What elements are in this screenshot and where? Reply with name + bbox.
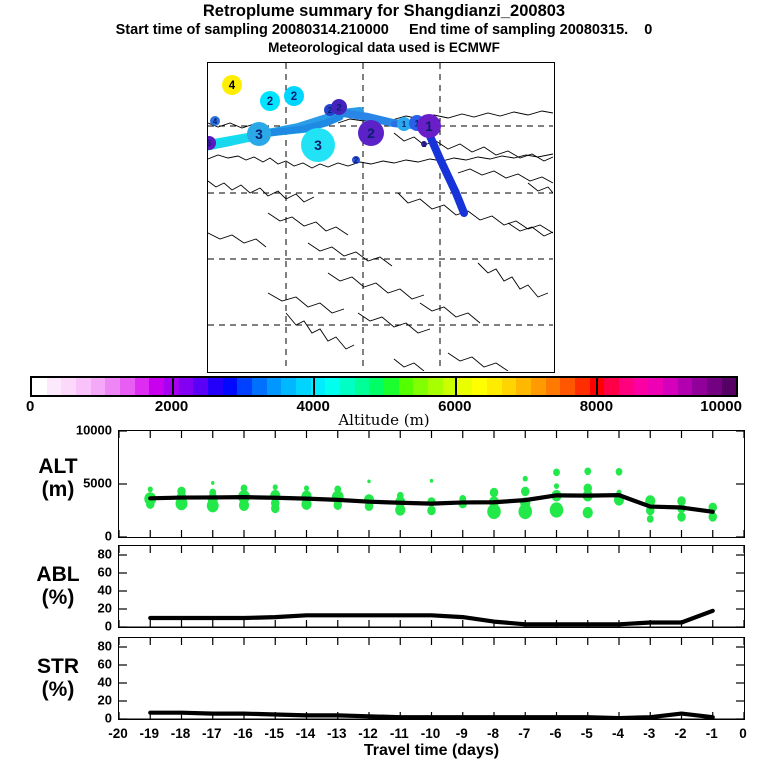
alt-scatter-point-6 [211, 481, 214, 485]
coast-path-8 [328, 273, 424, 299]
colorbar-swatch-43 [663, 378, 678, 395]
xtick-label--19: -19 [139, 726, 159, 741]
alt-scatter-point-44 [550, 502, 564, 517]
cluster-marker-label: 4 [213, 117, 218, 126]
coast-path-1 [208, 181, 314, 202]
colorbar-swatch-2 [61, 378, 76, 395]
coast-path-16 [394, 359, 424, 371]
met-data-line: Meteorological data used is ECMWF [0, 39, 768, 56]
cluster-marker-label: 2 [291, 91, 297, 103]
colorbar-swatch-37 [575, 378, 590, 395]
colorbar-swatch-7 [135, 378, 150, 395]
xtick-label--16: -16 [233, 726, 253, 741]
alt-scatter-point-2 [146, 499, 155, 509]
colorbar-swatch-29 [457, 378, 472, 395]
cluster-marker-label: 2 [267, 96, 273, 108]
xtick-label--17: -17 [202, 726, 222, 741]
cluster-marker-9[interactable]: 1 [397, 117, 411, 131]
xtick-label--8: -8 [487, 726, 499, 741]
alt-plot-canvas [119, 431, 744, 537]
colorbar-swatch-0 [32, 378, 47, 395]
colorbar-swatch-3 [76, 378, 91, 395]
coast-path-18 [208, 233, 266, 247]
colorbar-swatch-8 [149, 378, 164, 395]
xtick-label--3: -3 [643, 726, 655, 741]
colorbar-swatch-22 [355, 378, 370, 395]
cluster-marker-4[interactable]: 2 [331, 99, 347, 115]
xtick-label--11: -11 [390, 726, 409, 741]
altitude-colorbar[interactable] [30, 376, 738, 397]
coast-path-4 [458, 169, 553, 183]
cluster-marker-label: 2 [336, 102, 341, 112]
alt-scatter-points [144, 467, 717, 522]
colorbar-swatch-17 [281, 378, 296, 395]
alt-scatter-point-36 [487, 504, 501, 519]
colorbar-swatch-31 [487, 378, 502, 395]
colorbar-swatch-16 [267, 378, 282, 395]
colorbar-swatch-23 [369, 378, 384, 395]
alt-scatter-point-12 [239, 500, 249, 511]
cluster-marker-label: 4 [229, 80, 236, 92]
map-canvas: 422223322111145 [208, 63, 553, 371]
cluster-marker-label: 2 [354, 156, 359, 165]
colorbar-swatch-33 [516, 378, 531, 395]
alt-ytick-0: 0 [62, 529, 112, 544]
abl-ytick-60: 60 [62, 565, 112, 580]
xtick-label--18: -18 [171, 726, 191, 741]
xtick-label--7: -7 [518, 726, 530, 741]
coast-path-13 [478, 263, 548, 297]
cluster-marker-13[interactable]: 4 [210, 116, 220, 126]
abl-ytick-80: 80 [62, 547, 112, 562]
alt-scatter-point-48 [583, 507, 593, 518]
coast-path-9 [358, 313, 430, 333]
cluster-marker-label: 5 [208, 139, 212, 148]
coast-path-15 [448, 353, 508, 371]
abl-plot-panel[interactable] [118, 545, 745, 628]
alt-scatter-point-34 [490, 488, 499, 497]
str-ytick-80: 80 [62, 639, 112, 654]
xtick-label--14: -14 [296, 726, 316, 741]
coast-path-14 [508, 223, 553, 236]
xtick-label--5: -5 [581, 726, 593, 741]
colorbar-swatch-35 [546, 378, 561, 395]
str-ytick-40: 40 [62, 675, 112, 690]
alt-scatter-point-40 [518, 504, 532, 519]
abl-ytick-40: 40 [62, 583, 112, 598]
colorbar-swatch-4 [91, 378, 106, 395]
colorbar-swatch-15 [252, 378, 267, 395]
alt-ytick-10000: 10000 [62, 423, 112, 438]
colorbar-divider-8000 [596, 376, 598, 397]
coast-path-0 [208, 154, 553, 168]
str-plot-panel[interactable] [118, 637, 745, 720]
colorbar-swatch-14 [237, 378, 252, 395]
colorbar-swatch-21 [340, 378, 355, 395]
colorbar-swatch-10 [179, 378, 194, 395]
colorbar-divider-2000 [172, 376, 174, 397]
colorbar-swatch-13 [223, 378, 238, 395]
colorbar-swatch-36 [560, 378, 575, 395]
trajectory-segment-6 [426, 127, 464, 213]
alt-scatter-point-23 [367, 479, 370, 483]
colorbar-swatch-27 [428, 378, 443, 395]
page-title: Retroplume summary for Shangdianzi_20080… [0, 2, 768, 21]
alt-plot-panel[interactable] [118, 430, 745, 538]
str-ytick-20: 20 [62, 693, 112, 708]
cluster-marker-6[interactable]: 3 [301, 128, 335, 162]
str-ytick-60: 60 [62, 657, 112, 672]
cluster-marker-5[interactable]: 3 [247, 122, 271, 146]
cluster-marker-label: 1 [402, 120, 407, 129]
colorbar-divider-6000 [455, 376, 457, 397]
colorbar-swatch-46 [707, 378, 722, 395]
coast-path-7 [308, 243, 392, 266]
colorbar-swatch-30 [472, 378, 487, 395]
cluster-marker-label: 1 [422, 140, 427, 149]
cluster-marker-0[interactable]: 4 [222, 75, 242, 95]
xtick-label--15: -15 [264, 726, 284, 741]
colorbar-divider-4000 [313, 376, 315, 397]
coast-path-6 [268, 213, 348, 235]
coast-path-5 [398, 193, 553, 233]
coastline-layer [208, 111, 553, 371]
header-block: Retroplume summary for Shangdianzi_20080… [0, 2, 768, 56]
alt-scatter-point-54 [647, 515, 654, 523]
cluster-marker-label: 3 [255, 127, 263, 142]
alt-scatter-point-42 [554, 483, 559, 489]
colorbar-swatch-34 [531, 378, 546, 395]
xtick-label--13: -13 [327, 726, 347, 741]
map-gridlines [208, 63, 553, 371]
alt-scatter-point-29 [430, 479, 433, 483]
cluster-marker-1[interactable]: 2 [260, 91, 280, 111]
cluster-marker-12[interactable]: 1 [421, 140, 427, 149]
colorbar-swatch-20 [325, 378, 340, 395]
cluster-marker-7[interactable]: 2 [358, 120, 384, 146]
retroplume-map[interactable]: 422223322111145 [207, 62, 555, 373]
alt-scatter-point-45 [584, 467, 591, 475]
colorbar-swatch-47 [722, 378, 737, 395]
colorbar-swatch-32 [502, 378, 517, 395]
alt-scatter-point-28 [395, 504, 405, 515]
xtick-label--10: -10 [421, 726, 441, 741]
str-tick-marks [119, 638, 744, 719]
cluster-marker-label: 3 [314, 137, 322, 153]
colorbar-swatch-42 [648, 378, 663, 395]
alt-scatter-point-49 [616, 468, 623, 476]
cluster-marker-label: 2 [367, 125, 375, 141]
coast-path-3 [394, 133, 553, 161]
alt-scatter-point-17 [304, 485, 309, 491]
str-plot-canvas [119, 638, 744, 719]
abl-plot-canvas [119, 546, 744, 627]
alt-scatter-point-38 [521, 487, 530, 497]
coast-path-11 [286, 313, 354, 349]
alt-scatter-point-13 [273, 484, 278, 490]
colorbar-swatch-25 [399, 378, 414, 395]
colorbar-swatch-44 [678, 378, 693, 395]
xtick-label--2: -2 [674, 726, 686, 741]
colorbar-swatch-11 [193, 378, 208, 395]
xtick-label--9: -9 [456, 726, 468, 741]
colorbar-swatch-45 [692, 378, 707, 395]
xtick-label--12: -12 [358, 726, 378, 741]
alt-scatter-point-37 [523, 476, 528, 482]
alt-ytick-5000: 5000 [62, 476, 112, 491]
abl-ytick-0: 0 [62, 619, 112, 634]
coast-path-19 [528, 183, 553, 193]
colorbar-swatch-18 [296, 378, 311, 395]
cluster-marker-label: 1 [425, 119, 433, 134]
colorbar-swatch-24 [384, 378, 399, 395]
colorbar-swatch-40 [619, 378, 634, 395]
coast-path-10 [268, 293, 344, 313]
cluster-marker-2[interactable]: 2 [284, 86, 304, 106]
alt-scatter-point-57 [677, 512, 686, 522]
colorbar-swatch-39 [604, 378, 619, 395]
colorbar-axis-label: Altitude (m) [0, 411, 768, 429]
alt-scatter-point-9 [207, 499, 219, 512]
coast-path-12 [420, 303, 480, 323]
colorbar-swatch-6 [120, 378, 135, 395]
sampling-time-line: Start time of sampling 20080314.210000 E… [0, 21, 768, 39]
cluster-marker-8[interactable]: 2 [352, 156, 360, 165]
xtick-label--4: -4 [612, 726, 624, 741]
colorbar-swatch-1 [47, 378, 62, 395]
alt-scatter-point-31 [427, 506, 436, 516]
abl-ytick-20: 20 [62, 601, 112, 616]
alt-scatter-point-0 [148, 486, 153, 492]
colorbar-swatch-41 [634, 378, 649, 395]
alt-scatter-point-16 [271, 504, 280, 514]
cluster-marker-11[interactable]: 1 [417, 114, 441, 138]
xtick-label--6: -6 [549, 726, 561, 741]
colorbar-swatch-26 [413, 378, 428, 395]
xtick-label--20: -20 [108, 726, 128, 741]
alt-scatter-point-41 [553, 469, 560, 477]
xtick-label--1: -1 [706, 726, 718, 741]
colorbar-swatch-12 [208, 378, 223, 395]
x-axis-title: Travel time (days) [118, 742, 745, 760]
str-ytick-0: 0 [62, 711, 112, 726]
colorbar-swatch-5 [105, 378, 120, 395]
xtick-label-0: 0 [739, 726, 747, 741]
